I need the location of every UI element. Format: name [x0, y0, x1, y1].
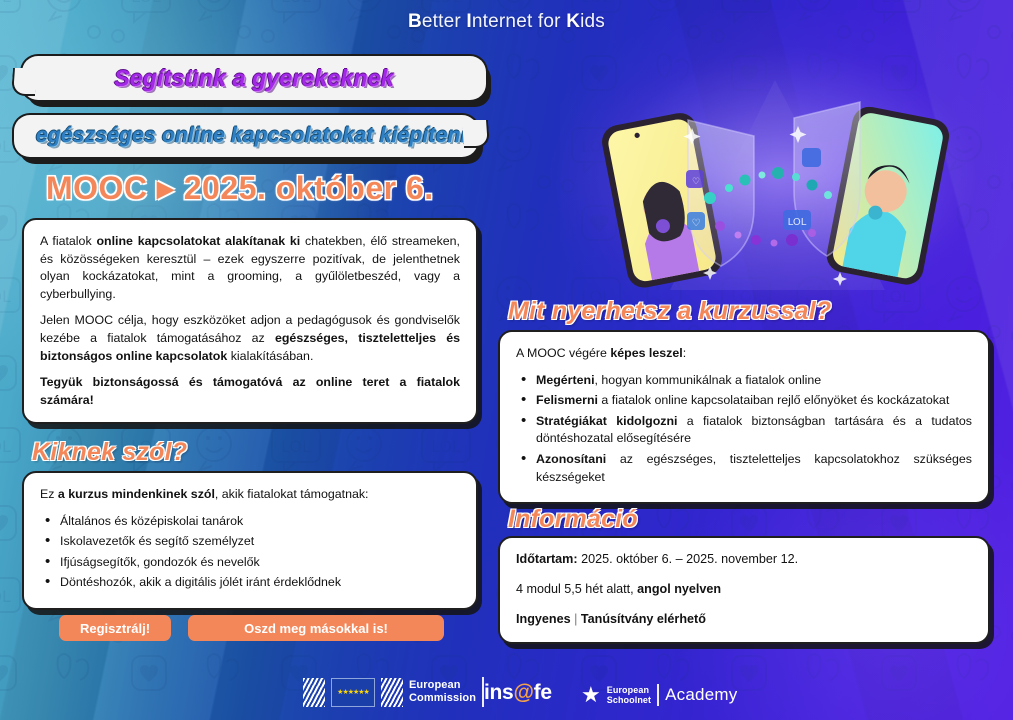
european-schoolnet-academy-logo: ★ European Schoolnet Academy	[581, 684, 737, 706]
who-list-item: Iskolavezetők és segítő személyzet	[40, 533, 460, 551]
gain-lead-part-c: :	[683, 346, 686, 360]
logo-letter-k: K	[566, 11, 580, 32]
who-lead-bold: a kurzus mindenkinek szól	[58, 487, 215, 501]
gain-list-item: Megérteni, hogyan kommunikálnak a fiatal…	[516, 372, 972, 390]
headline-line-2: egészséges online kapcsolatokat kiépíten…	[36, 124, 467, 148]
insafe-suffix: fe	[534, 681, 552, 704]
footer-divider-2	[657, 684, 659, 706]
intro-p1-part-a: A fiatalok	[40, 234, 96, 248]
gain-card: A MOOC végére képes leszel: Megérteni, h…	[498, 330, 990, 504]
intro-p1-bold: online kapcsolatokat alakítanak ki	[96, 234, 300, 248]
hero-illustration: LOL ♡ ♡	[540, 40, 1010, 315]
info-modules-row: 4 modul 5,5 hét alatt, angol nyelven	[516, 581, 972, 599]
info-modules-text: 4 modul 5,5 hét alatt,	[516, 582, 637, 596]
info-card: Időtartam: 2025. október 6. – 2025. nove…	[498, 536, 990, 644]
eu-stars-icon: ★★★★★★	[332, 679, 374, 706]
european-commission-label: European Commission	[409, 679, 476, 705]
european-schoolnet-label: European Schoolnet	[607, 685, 651, 705]
insafe-at-icon: @	[513, 681, 533, 704]
who-list-item: Döntéshozók, akik a digitális jólét irán…	[40, 574, 460, 592]
mooc-start-date: 2025. október 6.	[184, 170, 434, 206]
ec-line-1: European	[409, 679, 476, 692]
headline-line-1: Segítsünk a gyerekeknek	[114, 65, 393, 92]
esn-line-1: European	[607, 685, 651, 695]
gain-list: Megérteni, hogyan kommunikálnak a fiatal…	[516, 372, 972, 487]
info-price: Ingyenes	[516, 612, 571, 626]
info-price-row: Ingyenes | Tanúsítvány elérhető	[516, 611, 972, 629]
ec-fan-right-icon	[381, 678, 403, 707]
ec-line-2: Commission	[409, 692, 476, 705]
gain-item-rest: a fiatalok online kapcsolataiban rejlő e…	[598, 393, 949, 407]
gain-item-bold: Megérteni	[536, 373, 595, 387]
logo-text-etter: etter	[422, 11, 467, 32]
academy-label: Academy	[665, 685, 737, 705]
mooc-label: MOOC	[46, 170, 148, 206]
gain-lead: A MOOC végére képes leszel:	[516, 345, 972, 363]
better-internet-for-kids-logo: Better Internet for Kids	[0, 11, 1013, 33]
who-list-item: Általános és középiskolai tanárok	[40, 513, 460, 531]
gain-item-bold: Felismerni	[536, 393, 598, 407]
who-lead: Ez a kurzus mindenkinek szól, akik fiata…	[40, 486, 460, 504]
info-duration-value: 2025. október 6. – 2025. november 12.	[578, 552, 799, 566]
gain-lead-part-a: A MOOC végére	[516, 346, 610, 360]
ec-fan-left-icon	[303, 678, 325, 707]
info-section-heading: Információ	[508, 505, 638, 534]
schoolnet-star-icon: ★	[581, 684, 601, 706]
hero-illustration-svg: LOL ♡ ♡	[540, 40, 1010, 315]
gain-item-bold: Azonosítani	[536, 452, 606, 466]
esn-line-2: Schoolnet	[607, 695, 651, 705]
gain-section-heading: Mit nyerhetsz a kurzussal?	[508, 297, 831, 326]
intro-p3-bold: Tegyük biztonságossá és támogatóvá az on…	[40, 375, 460, 407]
logo-letter-b: B	[408, 11, 422, 32]
speech-bubble-headline-1: Segítsünk a gyerekeknek	[22, 56, 486, 100]
info-duration-label: Időtartam:	[516, 552, 578, 566]
who-list: Általános és középiskolai tanárokIskolav…	[40, 513, 460, 592]
svg-text:LOL: LOL	[788, 217, 807, 228]
who-lead-part-a: Ez	[40, 487, 58, 501]
logo-text-ids: ids	[580, 11, 605, 32]
svg-text:♡: ♡	[692, 177, 700, 187]
insafe-logo: ins@fe	[484, 681, 552, 705]
share-button[interactable]: Oszd meg másokkal is!	[188, 615, 444, 641]
svg-text:♡: ♡	[692, 218, 701, 229]
poster-canvas: Better Internet for Kids	[0, 0, 1013, 720]
intro-paragraph-1: A fiatalok online kapcsolatokat alakítan…	[40, 233, 460, 303]
gain-list-item: Stratégiákat kidolgozni a fiatalok bizto…	[516, 413, 972, 448]
triangle-right-icon: ▶	[157, 176, 174, 201]
who-list-item: Ifjúságsegítők, gondozók és nevelők	[40, 554, 460, 572]
gain-list-item: Azonosítani az egészséges, tisztelettelj…	[516, 451, 972, 486]
european-commission-logo: ★★★★★★ European Commission	[303, 677, 484, 707]
intro-paragraph-3: Tegyük biztonságossá és támogatóvá az on…	[40, 374, 460, 409]
info-separator: |	[571, 612, 581, 626]
info-duration-row: Időtartam: 2025. október 6. – 2025. nove…	[516, 551, 972, 569]
who-lead-part-c: , akik fiatalokat támogatnak:	[215, 487, 369, 501]
insafe-prefix: ins	[484, 681, 513, 704]
who-card: Ez a kurzus mindenkinek szól, akik fiata…	[22, 471, 478, 610]
gain-item-bold: Stratégiákat kidolgozni	[536, 414, 678, 428]
intro-paragraph-2: Jelen MOOC célja, hogy eszközöket adjon …	[40, 312, 460, 365]
who-section-heading: Kiknek szól?	[32, 438, 187, 467]
info-language: angol nyelven	[637, 582, 721, 596]
info-certificate: Tanúsítvány elérhető	[581, 612, 706, 626]
intro-card: A fiatalok online kapcsolatokat alakítan…	[22, 218, 478, 424]
gain-item-rest: , hogyan kommunikálnak a fiatalok online	[595, 373, 822, 387]
mooc-date-line: MOOC ▶ 2025. október 6.	[46, 170, 434, 207]
intro-p2-part-c: kialakításában.	[227, 349, 313, 363]
logo-text-nternet-for: nternet for	[472, 11, 566, 32]
speech-bubble-headline-2: egészséges online kapcsolatokat kiépíten…	[14, 115, 478, 157]
footer-logos: ★★★★★★ European Commission ins@fe ★ Euro…	[0, 662, 1013, 720]
register-button[interactable]: Regisztrálj!	[59, 615, 171, 641]
gain-lead-bold: képes leszel	[610, 346, 682, 360]
eu-flag-icon: ★★★★★★	[331, 678, 375, 707]
gain-list-item: Felismerni a fiatalok online kapcsolatai…	[516, 392, 972, 410]
